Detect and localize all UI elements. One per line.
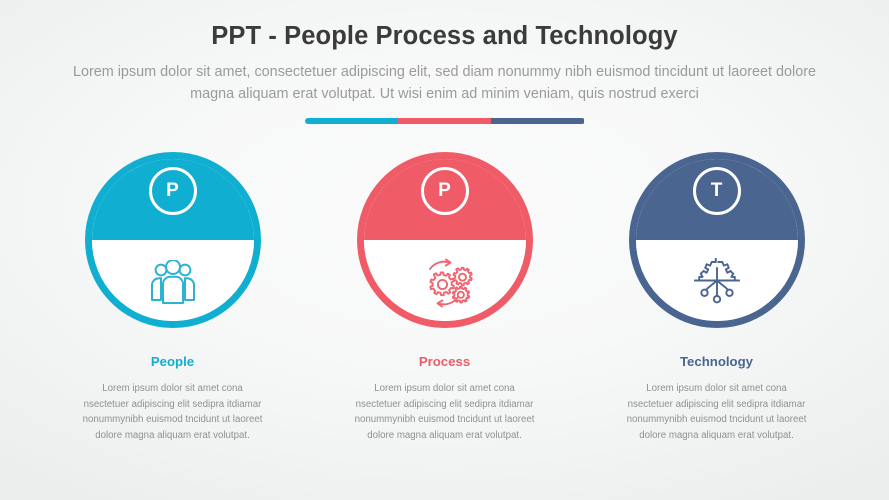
card-technology[interactable]: T	[588, 152, 846, 444]
gears-cycle-icon	[415, 256, 475, 310]
card-body-process: Lorem ipsum dolor sit amet cona nsectetu…	[355, 381, 535, 444]
card-process[interactable]: P	[316, 152, 574, 444]
page-title: PPT - People Process and Technology	[0, 22, 889, 50]
card-body-technology: Lorem ipsum dolor sit amet cona nsectetu…	[627, 381, 807, 444]
card-people[interactable]: P People Lorem ipsum dolor sit amet cona…	[44, 152, 302, 444]
cards-row: P People Lorem ipsum dolor sit amet cona…	[0, 152, 889, 444]
badge-process: P	[421, 167, 469, 215]
card-body-people: Lorem ipsum dolor sit amet cona nsectetu…	[83, 381, 263, 444]
divider-segment-3	[491, 118, 584, 124]
circle-graphic-process[interactable]: P	[357, 152, 533, 328]
card-title-technology: Technology	[680, 354, 753, 370]
badge-letter-people: P	[166, 181, 179, 200]
page-subtitle: Lorem ipsum dolor sit amet, consectetuer…	[55, 61, 835, 106]
badge-people: P	[149, 167, 197, 215]
circle-graphic-people[interactable]: P	[85, 152, 261, 328]
badge-letter-process: P	[438, 181, 451, 200]
divider-segment-2	[398, 118, 491, 124]
divider-segment-1	[305, 118, 398, 124]
badge-technology: T	[693, 167, 741, 215]
circle-graphic-technology[interactable]: T	[629, 152, 805, 328]
slide-canvas: PPT - People Process and Technology Lore…	[0, 0, 889, 500]
badge-letter-technology: T	[711, 181, 723, 200]
card-title-process: Process	[419, 354, 470, 370]
accent-divider	[305, 118, 585, 124]
slide-header: PPT - People Process and Technology Lore…	[0, 0, 889, 124]
people-group-icon	[143, 256, 203, 310]
tech-circuit-gear-icon	[687, 256, 747, 310]
card-title-people: People	[151, 354, 194, 370]
